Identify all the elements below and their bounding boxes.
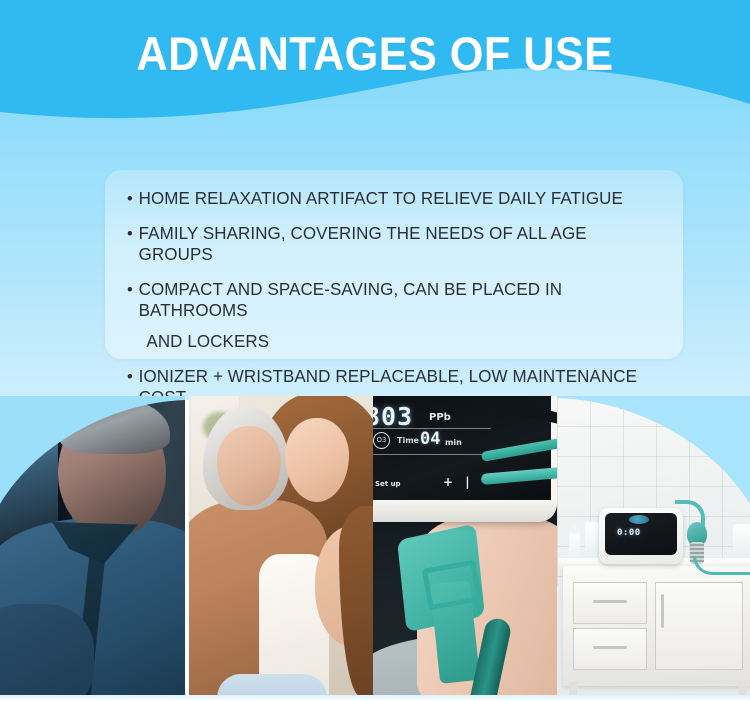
feature-text-3: COMPACT AND SPACE-SAVING, CAN BE PLACED … xyxy=(139,279,563,320)
feature-text-3-wrap: COMPACT AND SPACE-SAVING, CAN BE PLACED … xyxy=(139,279,645,352)
list-item: • FAMILY SHARING, COVERING THE NEEDS OF … xyxy=(127,223,645,265)
two-women-smiling-photo xyxy=(189,396,373,695)
device-on-cabinet-photo: 0:00 xyxy=(557,396,750,695)
setup-button-label[interactable]: Set up xyxy=(375,480,401,488)
advantages-of-use-banner: ADVANTAGES OF USE • HOME RELAXATION ARTI… xyxy=(0,0,750,701)
hair-strand-shape xyxy=(339,506,373,695)
bottom-trim xyxy=(0,695,750,701)
device-panel-edge xyxy=(373,500,557,522)
bullet-icon: • xyxy=(127,279,139,300)
drawer-handle-1 xyxy=(593,600,627,603)
cabinet-door xyxy=(655,582,743,670)
bullet-icon: • xyxy=(127,188,139,209)
tired-older-man-photo xyxy=(0,396,185,695)
arm-shape xyxy=(0,604,94,695)
list-item: • HOME RELAXATION ARTIFACT TO RELIEVE DA… xyxy=(127,188,645,209)
brand-logo-icon xyxy=(629,515,649,524)
device-readout: 0:00 xyxy=(617,528,641,538)
bottle-2-shape xyxy=(585,522,599,560)
display-divider-2 xyxy=(373,454,491,455)
cabinet-leg-2 xyxy=(739,682,747,695)
list-item: • COMPACT AND SPACE-SAVING, CAN BE PLACE… xyxy=(127,279,645,352)
photo-scene xyxy=(0,396,185,695)
ozone-reading-unit: PPb xyxy=(429,412,451,423)
timer-unit: min xyxy=(445,438,462,447)
photo-scene: 0:00 xyxy=(557,396,750,695)
feature-text-2: FAMILY SHARING, COVERING THE NEEDS OF AL… xyxy=(139,223,645,265)
features-panel: • HOME RELAXATION ARTIFACT TO RELIEVE DA… xyxy=(105,170,683,359)
towel-shape xyxy=(733,524,750,554)
timer-value: 04 xyxy=(420,429,440,449)
bullet-icon: • xyxy=(127,366,139,387)
photo-scene: 803 PPb O3 Time 04 min Set up + | − xyxy=(373,396,557,695)
drawer-handle-2 xyxy=(593,646,627,649)
photo-scene xyxy=(189,396,373,695)
wristband-on-arm-photo: 803 PPb O3 Time 04 min Set up + | − xyxy=(373,396,557,695)
timer-label: Time xyxy=(397,436,419,445)
hair-shape xyxy=(60,398,170,454)
feature-text-1: HOME RELAXATION ARTIFACT TO RELIEVE DAIL… xyxy=(139,188,645,209)
door-handle xyxy=(661,594,664,628)
ozone-badge-icon: O3 xyxy=(373,432,390,449)
features-list: • HOME RELAXATION ARTIFACT TO RELIEVE DA… xyxy=(127,188,661,408)
bottle-neck-shape xyxy=(572,524,577,534)
cabinet-drawer-1 xyxy=(573,582,647,624)
ozone-reading-value: 803 xyxy=(373,402,413,431)
feature-text-3-continuation: AND LOCKERS xyxy=(139,331,645,352)
bullet-icon: • xyxy=(127,223,139,244)
lap-shape xyxy=(217,674,327,695)
cabinet-drawer-2 xyxy=(573,628,647,670)
page-title: ADVANTAGES OF USE xyxy=(30,26,720,82)
device-cord-shape xyxy=(693,556,750,575)
cabinet-leg-1 xyxy=(569,682,577,695)
bottle-1-shape xyxy=(569,532,580,560)
photo-gallery: 803 PPb O3 Time 04 min Set up + | − xyxy=(0,396,750,695)
